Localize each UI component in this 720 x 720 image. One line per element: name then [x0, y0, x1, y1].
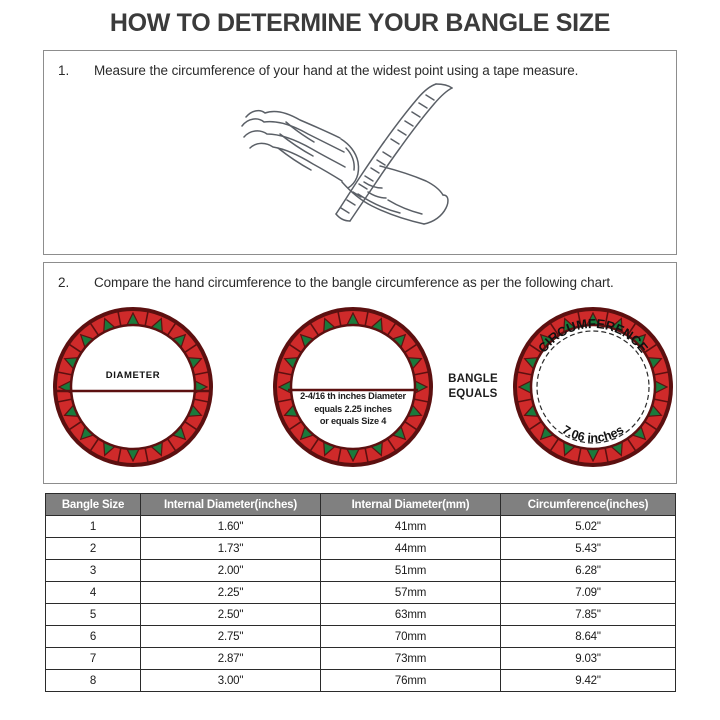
table-row: 6 2.75" 70mm 8.64" — [46, 626, 676, 648]
step-1-number: 1. — [58, 63, 94, 78]
table-row: 2 1.73" 44mm 5.43" — [46, 538, 676, 560]
bangle-equals-note-line1: 2-4/16 th inches Diameter — [282, 390, 424, 403]
cell-diameter-inches: 3.00" — [141, 670, 321, 692]
column-header-bangle-size: Bangle Size — [46, 494, 141, 516]
cell-size: 4 — [46, 582, 141, 604]
cell-circumference: 8.64" — [501, 626, 676, 648]
cell-diameter-mm: 73mm — [321, 648, 501, 670]
cell-diameter-mm: 57mm — [321, 582, 501, 604]
cell-size: 1 — [46, 516, 141, 538]
bangle-diagram-equals: 2-4/16 th inches Diameter equals 2.25 in… — [268, 302, 438, 472]
bangle-equals-caption: BANGLE EQUALS — [438, 372, 508, 402]
table-row: 4 2.25" 57mm 7.09" — [46, 582, 676, 604]
cell-circumference: 6.28" — [501, 560, 676, 582]
step-2-text: Compare the hand circumference to the ba… — [94, 275, 614, 290]
bangle-equals-caption-line1: BANGLE — [438, 372, 508, 387]
table-row: 3 2.00" 51mm 6.28" — [46, 560, 676, 582]
diameter-label: DIAMETER — [48, 370, 218, 381]
table-row: 8 3.00" 76mm 9.42" — [46, 670, 676, 692]
page-title: HOW TO DETERMINE YOUR BANGLE SIZE — [0, 8, 720, 38]
cell-diameter-inches: 2.75" — [141, 626, 321, 648]
bangle-equals-note: 2-4/16 th inches Diameter equals 2.25 in… — [282, 390, 424, 428]
column-header-circumference-inches: Circumference(inches) — [501, 494, 676, 516]
bangle-equals-caption-line2: EQUALS — [438, 387, 508, 402]
cell-size: 7 — [46, 648, 141, 670]
cell-diameter-mm: 63mm — [321, 604, 501, 626]
cell-diameter-inches: 2.00" — [141, 560, 321, 582]
hand-with-tape-measure-icon — [228, 82, 458, 252]
cell-circumference: 5.02" — [501, 516, 676, 538]
column-header-diameter-mm: Internal Diameter(mm) — [321, 494, 501, 516]
bangle-equals-note-line3: or equals Size 4 — [282, 415, 424, 428]
cell-size: 6 — [46, 626, 141, 648]
cell-diameter-mm: 51mm — [321, 560, 501, 582]
step-1-text: Measure the circumference of your hand a… — [94, 63, 578, 78]
cell-diameter-mm: 44mm — [321, 538, 501, 560]
cell-diameter-inches: 2.25" — [141, 582, 321, 604]
cell-circumference: 9.03" — [501, 648, 676, 670]
step-2-row: 2. Compare the hand circumference to the… — [58, 275, 666, 290]
cell-size: 8 — [46, 670, 141, 692]
bangle-diagram-diameter: DIAMETER — [48, 302, 218, 472]
cell-circumference: 5.43" — [501, 538, 676, 560]
table-row: 7 2.87" 73mm 9.03" — [46, 648, 676, 670]
step-1-row: 1. Measure the circumference of your han… — [58, 63, 666, 78]
cell-diameter-inches: 2.50" — [141, 604, 321, 626]
table-header-row: Bangle Size Internal Diameter(inches) In… — [46, 494, 676, 516]
cell-diameter-mm: 41mm — [321, 516, 501, 538]
table-row: 1 1.60" 41mm 5.02" — [46, 516, 676, 538]
cell-diameter-inches: 1.73" — [141, 538, 321, 560]
table-row: 5 2.50" 63mm 7.85" — [46, 604, 676, 626]
cell-circumference: 7.85" — [501, 604, 676, 626]
cell-diameter-mm: 76mm — [321, 670, 501, 692]
bangle-equals-note-line2: equals 2.25 inches — [282, 403, 424, 416]
cell-diameter-mm: 70mm — [321, 626, 501, 648]
cell-diameter-inches: 2.87" — [141, 648, 321, 670]
cell-diameter-inches: 1.60" — [141, 516, 321, 538]
column-header-diameter-inches: Internal Diameter(inches) — [141, 494, 321, 516]
cell-circumference: 9.42" — [501, 670, 676, 692]
cell-size: 2 — [46, 538, 141, 560]
cell-circumference: 7.09" — [501, 582, 676, 604]
bangle-size-table: Bangle Size Internal Diameter(inches) In… — [45, 493, 676, 692]
bangle-diagram-circumference: CIRCUMFERENCE 7.06 inches — [508, 302, 678, 472]
step-2-number: 2. — [58, 275, 94, 290]
cell-size: 5 — [46, 604, 141, 626]
cell-size: 3 — [46, 560, 141, 582]
